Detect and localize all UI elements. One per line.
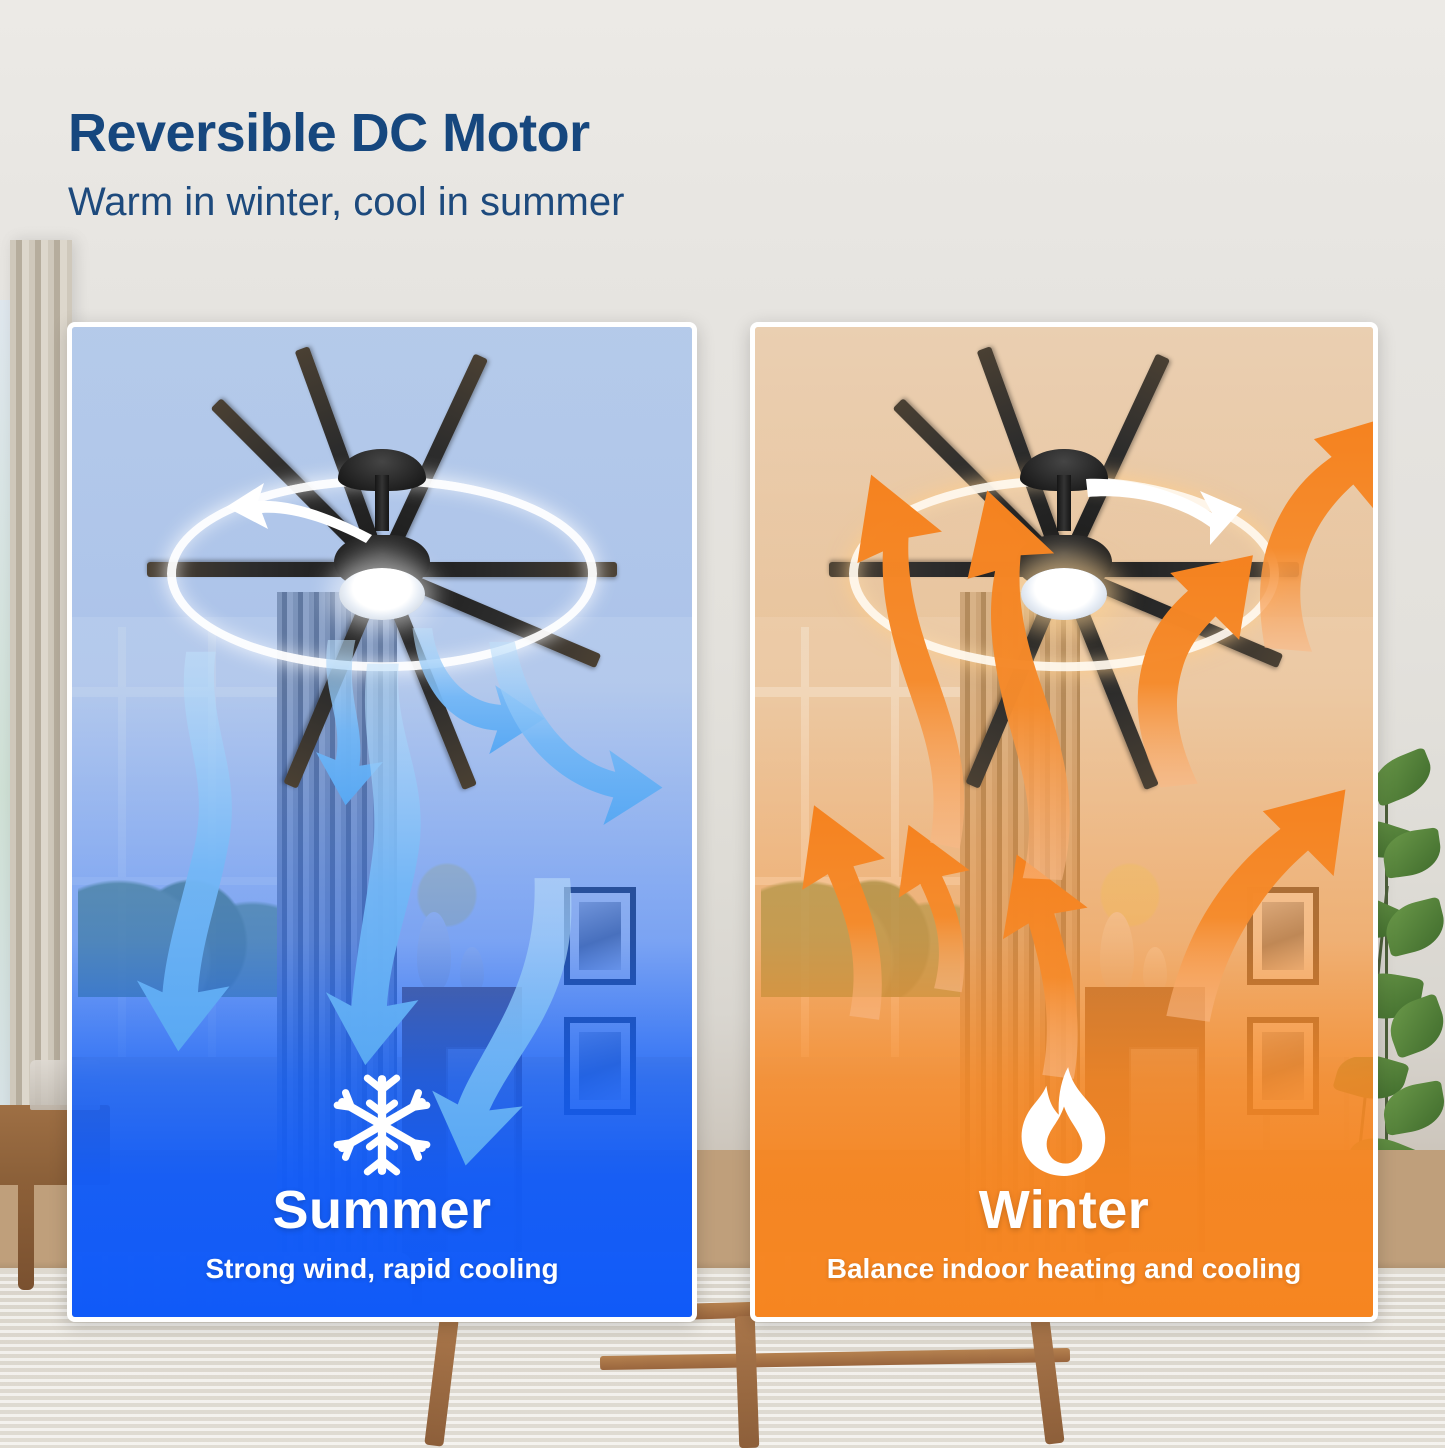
led-light-icon	[339, 568, 425, 620]
panel-summer[interactable]: Summer Strong wind, rapid cooling	[67, 322, 697, 1322]
rotation-arrow-clockwise-icon	[1084, 469, 1244, 549]
fan-downrod	[1057, 475, 1071, 531]
page-subtitle: Warm in winter, cool in summer	[68, 179, 624, 225]
panel-winter[interactable]: Winter Balance indoor heating and coolin…	[750, 322, 1378, 1322]
fan-downrod	[375, 475, 389, 531]
season-description: Strong wind, rapid cooling	[72, 1253, 692, 1285]
season-name: Summer	[72, 1179, 692, 1241]
snowflake-icon	[330, 1073, 434, 1177]
page-title: Reversible DC Motor	[68, 104, 624, 163]
ceiling-fan-winter	[784, 447, 1344, 677]
ceiling-fan-summer	[102, 447, 662, 677]
winter-label-block: Winter Balance indoor heating and coolin…	[755, 1065, 1373, 1285]
season-name: Winter	[755, 1179, 1373, 1241]
header: Reversible DC Motor Warm in winter, cool…	[68, 104, 624, 225]
led-light-icon	[1021, 568, 1107, 620]
background-table-leg	[18, 1180, 34, 1290]
flame-icon	[1012, 1065, 1116, 1177]
season-description: Balance indoor heating and cooling	[755, 1253, 1373, 1285]
summer-label-block: Summer Strong wind, rapid cooling	[72, 1073, 692, 1285]
rotation-arrow-counter-clockwise-icon	[224, 477, 374, 547]
